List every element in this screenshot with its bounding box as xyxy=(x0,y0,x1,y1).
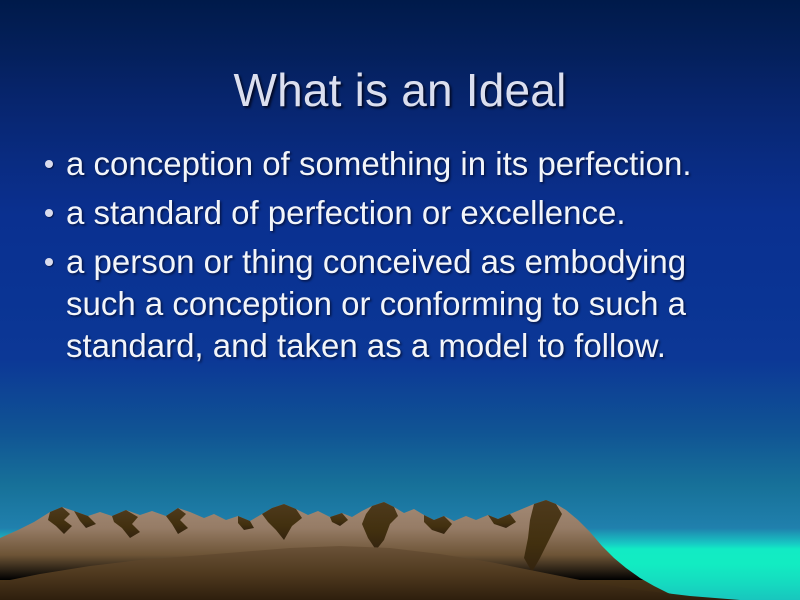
list-item-text: a standard of perfection or excellence. xyxy=(66,192,706,234)
list-item: a conception of something in its perfect… xyxy=(36,143,764,185)
list-item: a standard of perfection or excellence. xyxy=(36,192,764,234)
list-item-text: a conception of something in its perfect… xyxy=(66,143,706,185)
title-block: What is an Ideal xyxy=(0,34,800,146)
bullet-list: a conception of something in its perfect… xyxy=(36,143,764,374)
slide: What is an Ideal a conception of somethi… xyxy=(0,0,800,600)
bullet-dot-icon xyxy=(36,192,66,234)
bullet-dot-icon xyxy=(36,143,66,185)
list-item-text: a person or thing conceived as embodying… xyxy=(66,241,706,367)
bullet-dot-icon xyxy=(36,241,66,283)
list-item: a person or thing conceived as embodying… xyxy=(36,241,764,367)
page-title: What is an Ideal xyxy=(233,65,566,116)
mountain-range-graphic xyxy=(0,490,800,600)
